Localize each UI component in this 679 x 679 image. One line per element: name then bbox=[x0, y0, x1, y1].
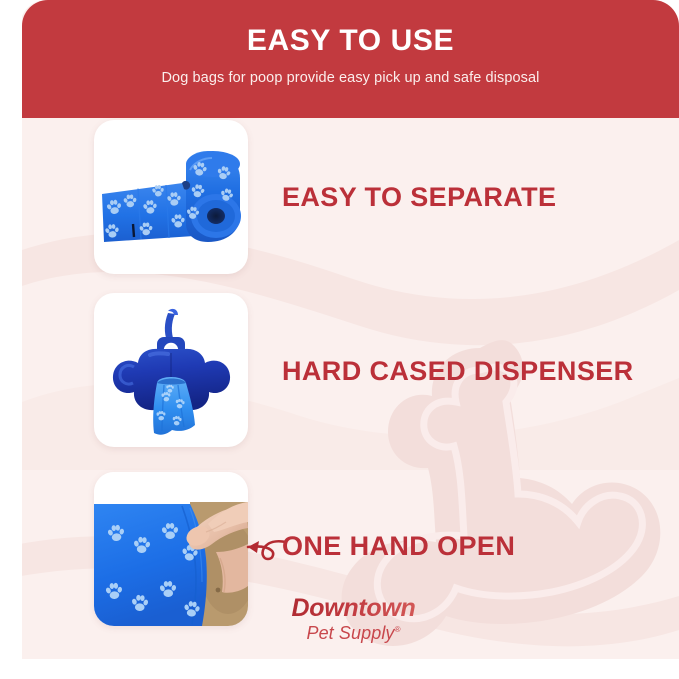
brand-logo: Downtown Pet Supply® bbox=[266, 596, 441, 642]
blue-bone-shaped-dispenser-icon bbox=[94, 293, 248, 447]
feature-image-card-1 bbox=[94, 120, 248, 274]
brand-tagline: Pet Supply® bbox=[266, 624, 441, 642]
product-infographic: EASY TO USE Dog bags for poop provide ea… bbox=[0, 0, 679, 679]
feature-image-card-3 bbox=[94, 472, 248, 626]
hand-pulling-blue-bag-icon bbox=[94, 472, 248, 626]
bottom-margin bbox=[0, 659, 679, 679]
roll-of-blue-poop-bags-icon bbox=[94, 120, 248, 274]
feature-image-card-2 bbox=[94, 293, 248, 447]
feature-label-one-hand-open: ONE HAND OPEN bbox=[282, 533, 515, 560]
page-subtitle: Dog bags for poop provide easy pick up a… bbox=[22, 70, 679, 87]
feature-label-hard-cased-dispenser: HARD CASED DISPENSER bbox=[282, 358, 634, 385]
header-banner: EASY TO USE Dog bags for poop provide ea… bbox=[22, 0, 679, 118]
page-title: EASY TO USE bbox=[22, 26, 679, 56]
brand-tagline-text: Pet Supply bbox=[306, 623, 394, 643]
left-margin bbox=[0, 0, 22, 679]
feature-label-easy-to-separate: EASY TO SEPARATE bbox=[282, 184, 556, 211]
brand-name: Downtown bbox=[266, 596, 441, 621]
registered-mark: ® bbox=[395, 625, 401, 634]
